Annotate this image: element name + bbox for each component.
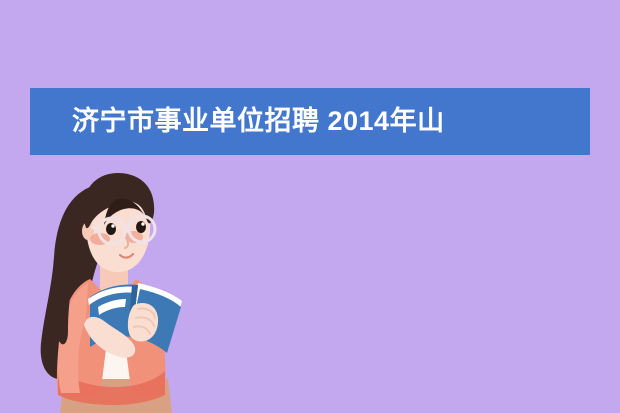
illustration-svg xyxy=(28,165,208,413)
woman-reading-book-illustration xyxy=(28,165,208,413)
screenshot-canvas: 济宁市事业单位招聘 2014年山 xyxy=(0,0,620,413)
eye-right xyxy=(136,221,146,233)
page-title: 济宁市事业单位招聘 2014年山 xyxy=(30,108,445,135)
eye-left xyxy=(106,223,116,235)
eye-right-highlight xyxy=(141,222,144,225)
eye-left-highlight xyxy=(111,224,114,227)
title-banner: 济宁市事业单位招聘 2014年山 xyxy=(30,88,590,155)
